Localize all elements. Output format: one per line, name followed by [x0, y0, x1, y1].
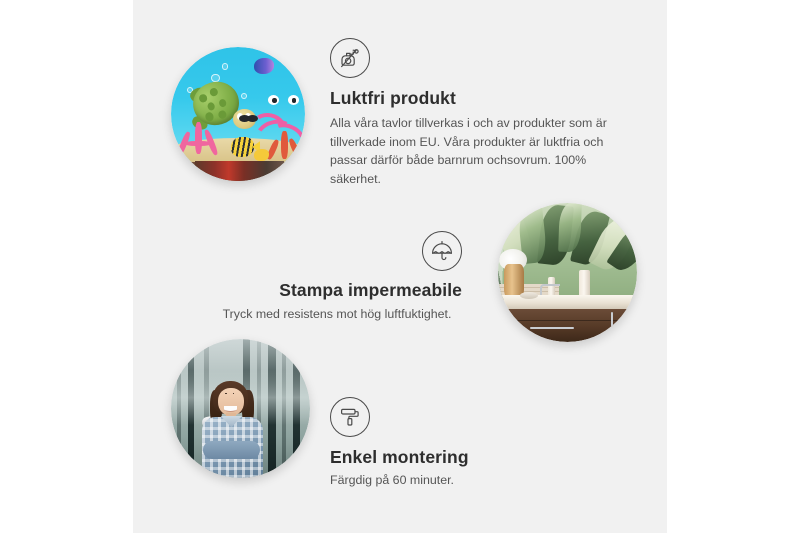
no-fragrance-icon	[330, 38, 370, 78]
feature-body: Färgdig på 60 minuter.	[330, 471, 580, 490]
lotion-bottle	[579, 270, 590, 298]
infographic-canvas: Luktfri produkt Alla våra tavlor tillver…	[0, 0, 800, 533]
feature-block-mounting: Enkel montering Färgdig på 60 minuter.	[330, 397, 580, 490]
feature-block-waterproof: Stampa impermeabile Tryck med resistens …	[212, 231, 462, 324]
wooden-vanity-cabinet	[506, 309, 637, 342]
yellow-striped-fish-icon	[231, 137, 254, 157]
feature-title: Stampa impermeabile	[212, 280, 462, 301]
photo-bathroom-tropical-wallpaper	[498, 203, 637, 342]
feature-body: Alla våra tavlor tillverkas i och av pro…	[330, 114, 626, 188]
feature-body: Tryck med resistens mot hög luftfuktighe…	[212, 305, 462, 324]
small-yellow-fish-icon	[254, 149, 269, 161]
photo-underwater-cartoon-mural	[171, 47, 305, 181]
blue-fish-icon	[254, 58, 274, 74]
umbrella-icon	[422, 231, 462, 271]
pink-coral-illustration	[179, 122, 219, 162]
feature-block-odorless: Luktfri produkt Alla våra tavlor tillver…	[330, 38, 626, 188]
soap-dish	[520, 292, 538, 299]
photo-woman-with-paint-roller	[171, 339, 310, 478]
feature-title: Enkel montering	[330, 447, 580, 468]
woman-illustration	[196, 381, 268, 478]
feature-title: Luktfri produkt	[330, 88, 626, 109]
bubble-icon	[222, 63, 229, 70]
paint-roller-icon	[330, 397, 370, 437]
shipwreck-objects	[195, 161, 283, 181]
red-coral-illustration	[268, 131, 303, 163]
